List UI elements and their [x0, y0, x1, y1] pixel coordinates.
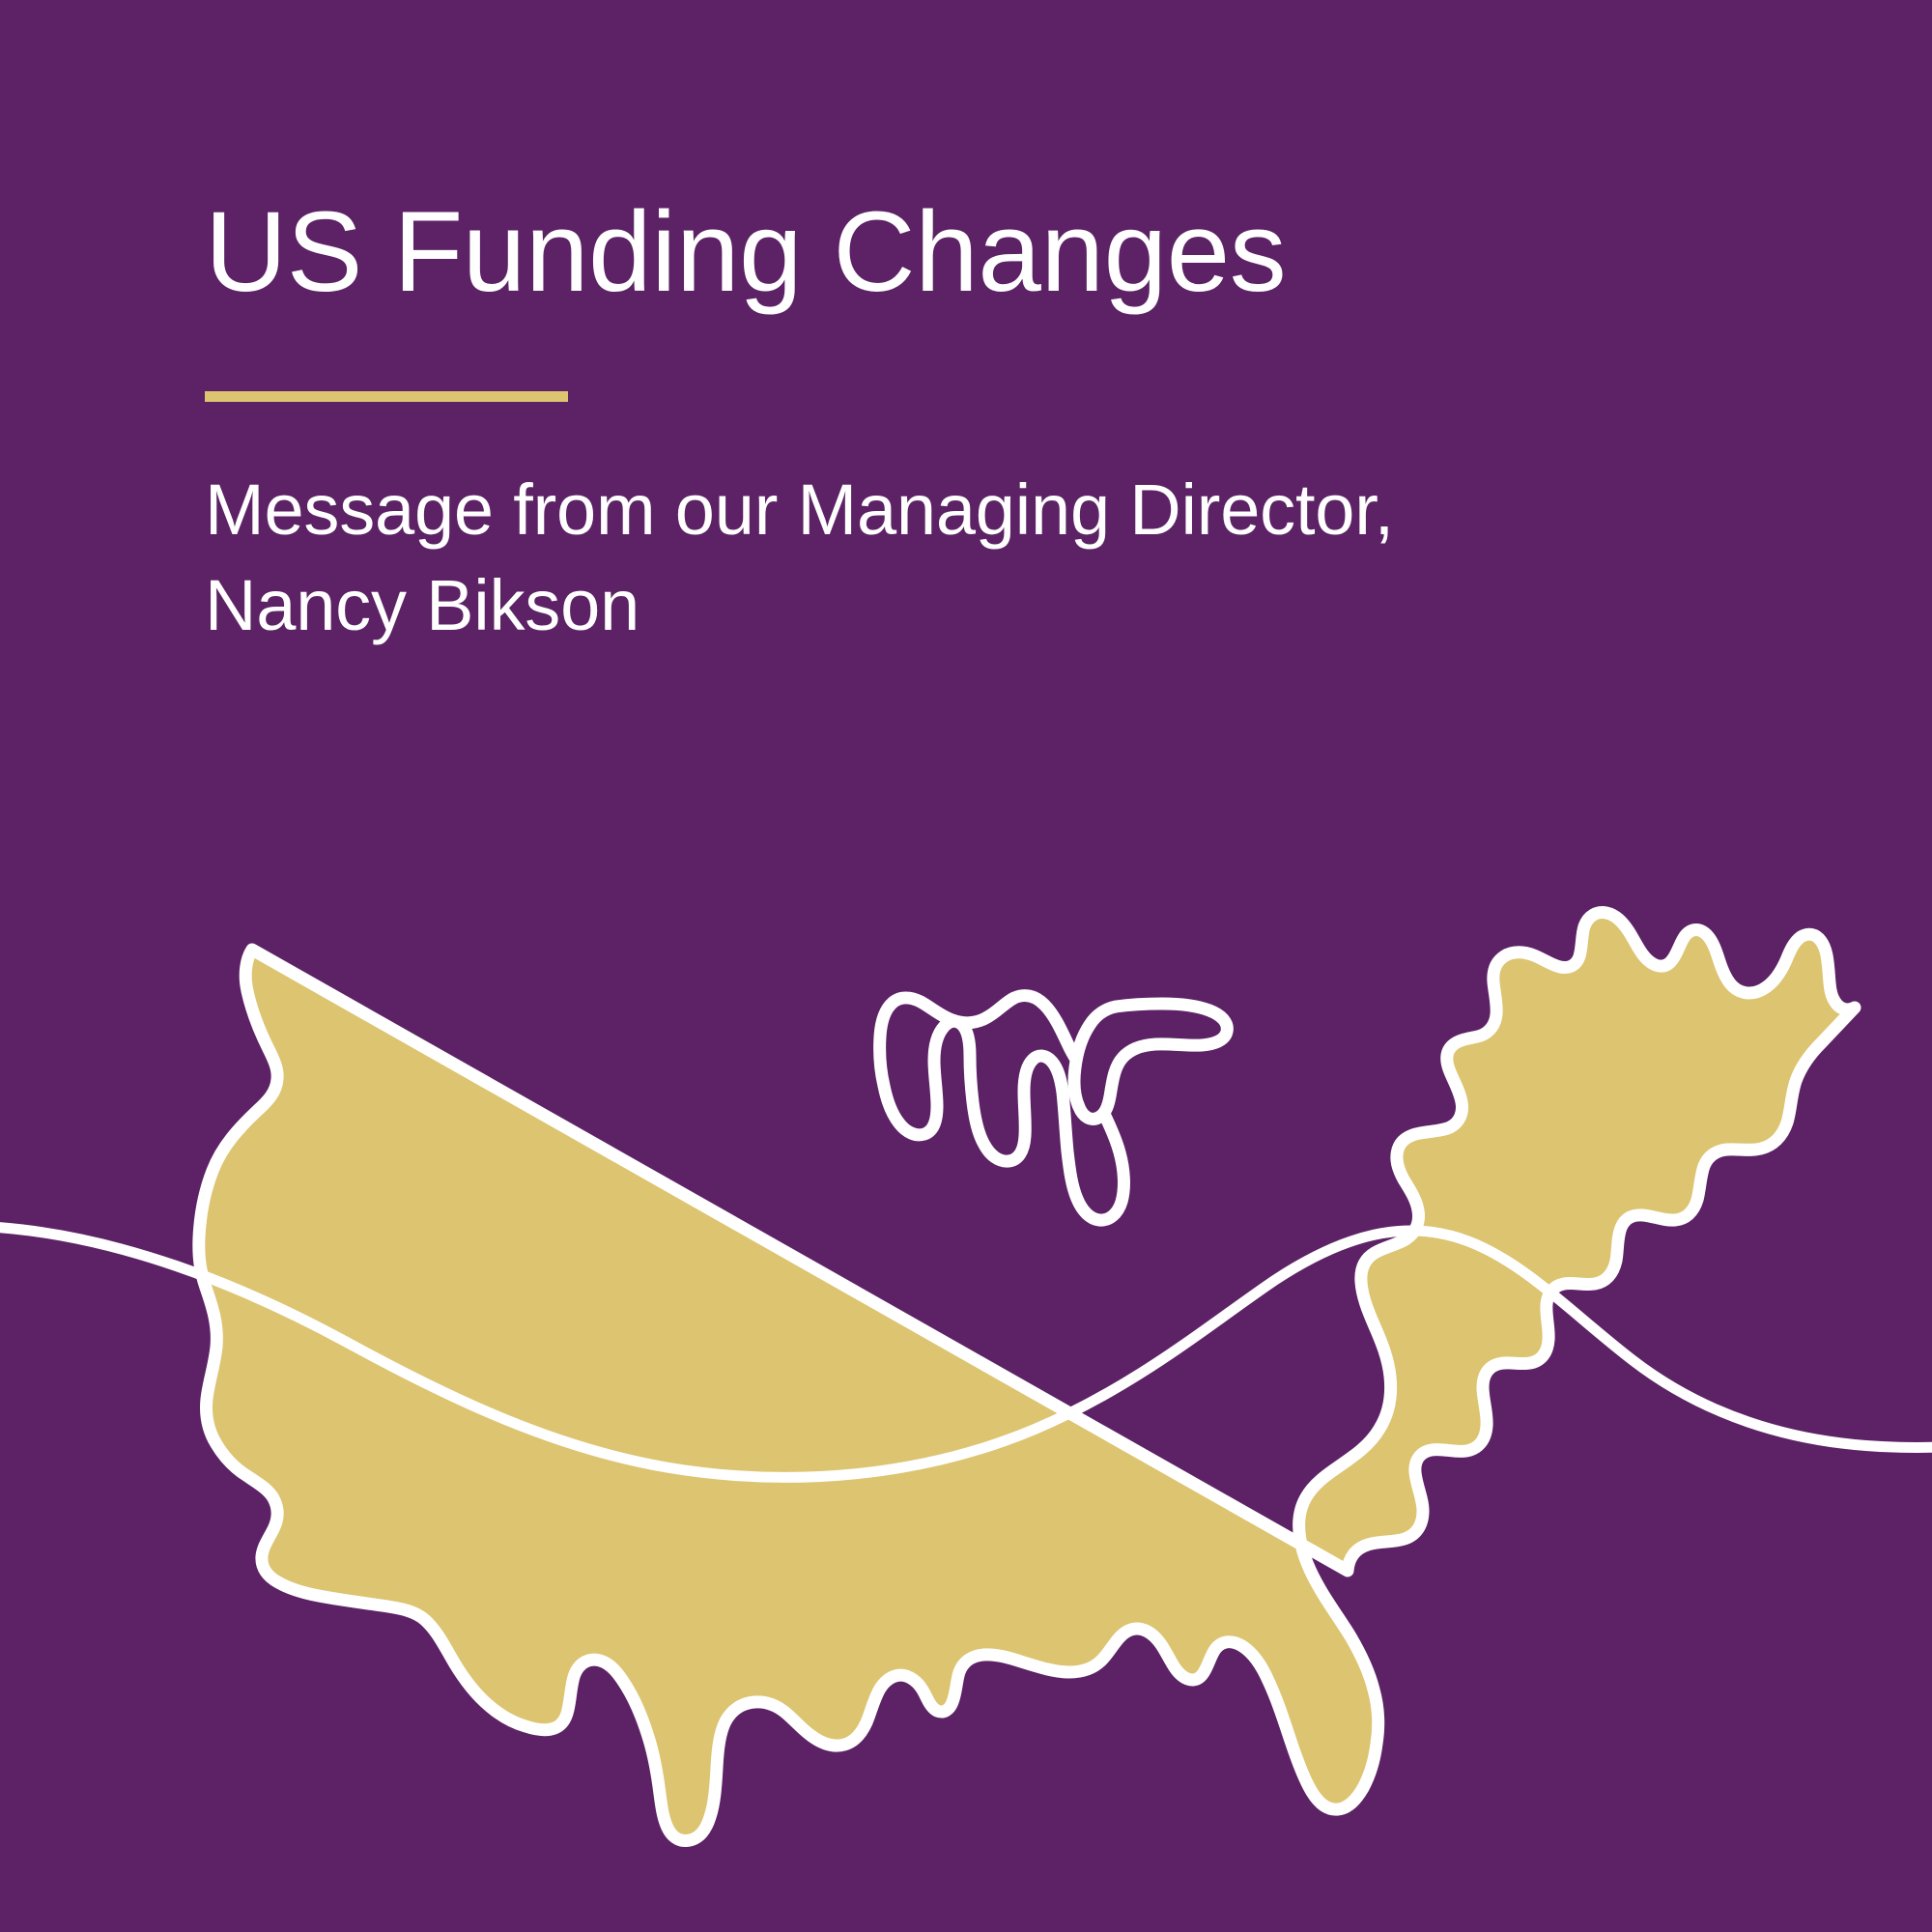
- page-title: US Funding Changes: [205, 188, 1770, 316]
- subtitle-line-2: Nancy Bikson: [205, 558, 1770, 653]
- subtitle-line-1: Message from our Managing Director,: [205, 463, 1770, 557]
- slide-canvas: US Funding Changes Message from our Mana…: [0, 0, 1932, 1932]
- page-subtitle: Message from our Managing Director, Nanc…: [205, 463, 1770, 653]
- header-text-block: US Funding Changes Message from our Mana…: [205, 188, 1770, 653]
- gold-divider-rule: [205, 391, 568, 402]
- divider-container: [205, 391, 1770, 403]
